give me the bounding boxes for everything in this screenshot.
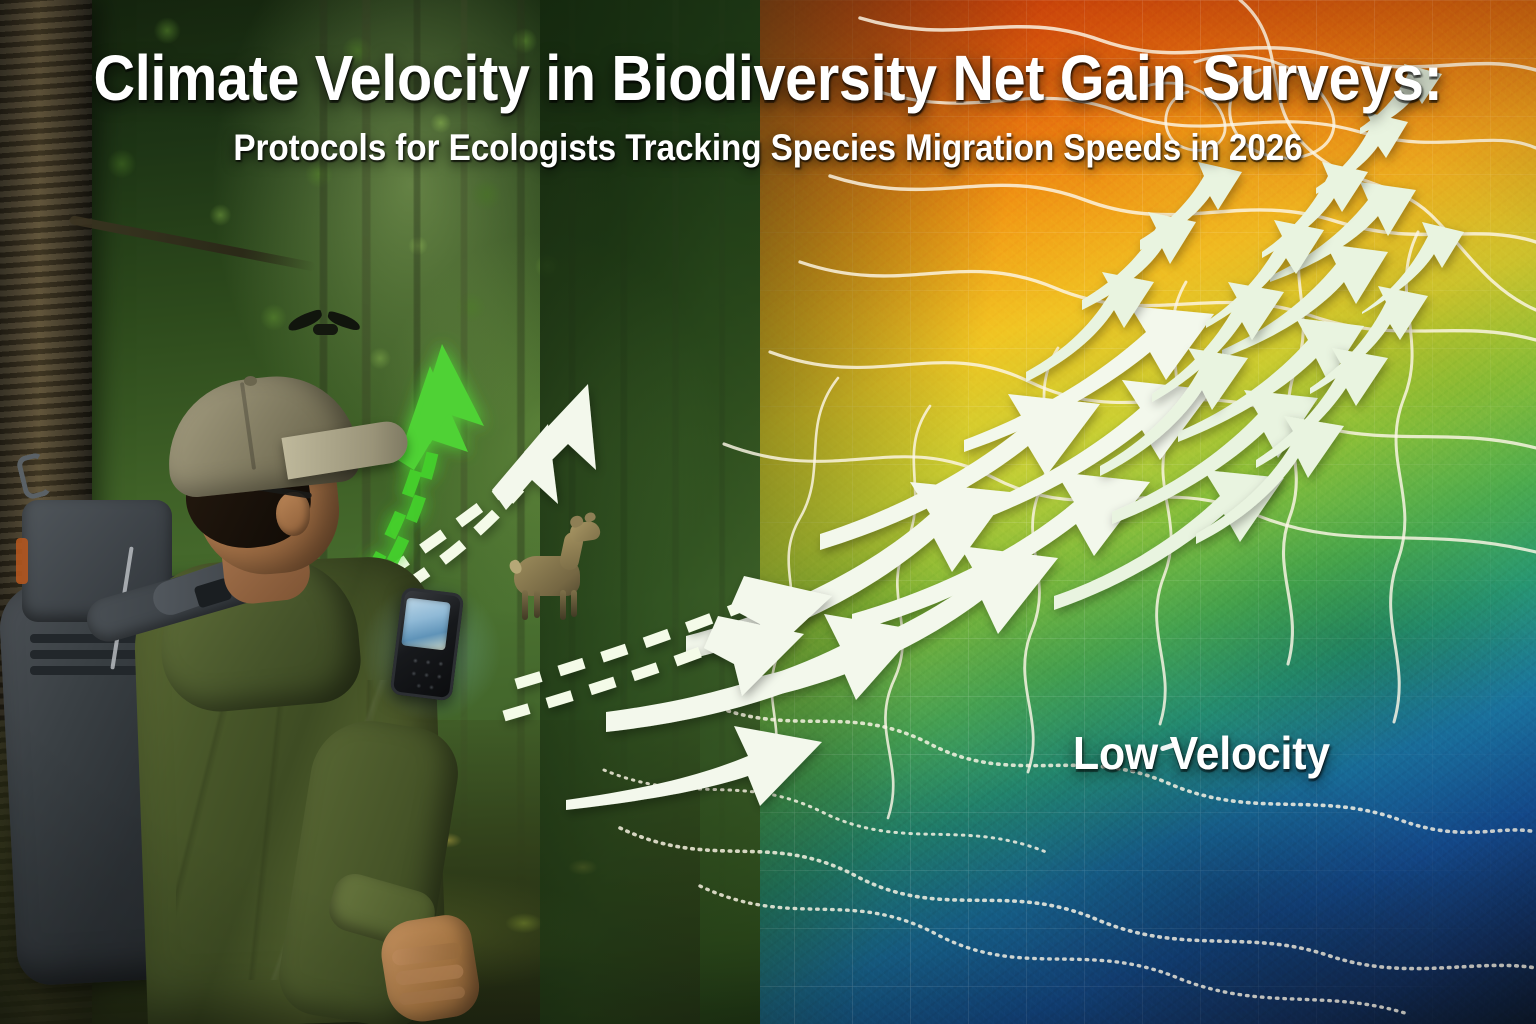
page-subtitle: Protocols for Ecologists Tracking Specie…	[77, 128, 1459, 169]
page-title: Climate Velocity in Biodiversity Net Gai…	[77, 46, 1459, 112]
legend-low-velocity-label: Low Velocity	[1073, 726, 1330, 780]
title-block: Climate Velocity in Biodiversity Net Gai…	[0, 46, 1536, 169]
poster-canvas: Climate Velocity in Biodiversity Net Gai…	[0, 0, 1536, 1024]
